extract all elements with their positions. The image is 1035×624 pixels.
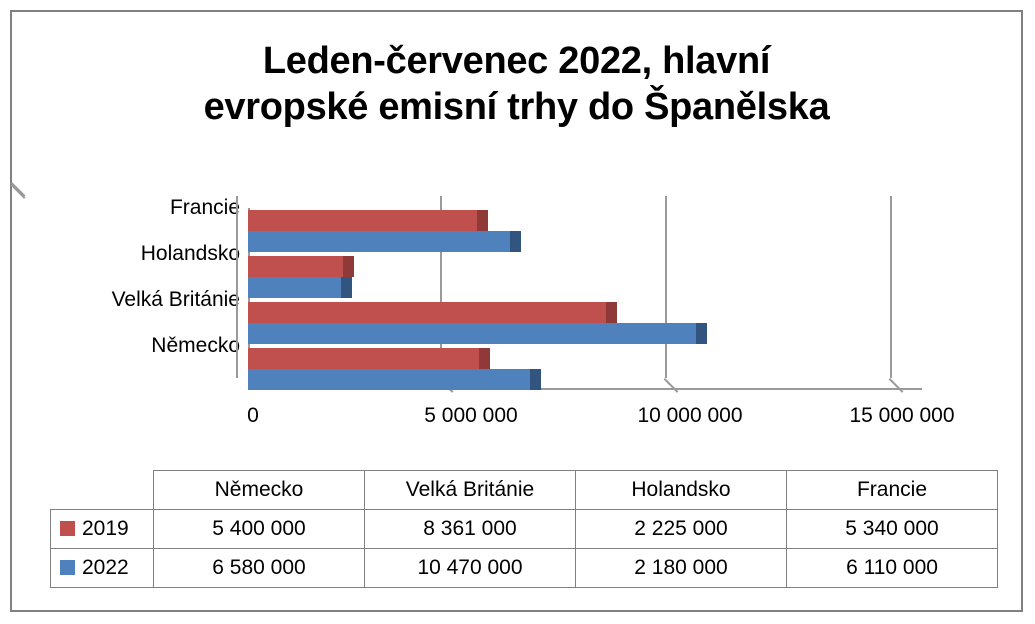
legend-label-2022: 2022: [82, 556, 129, 579]
bar-end-cap: [477, 210, 488, 231]
cell-2022-nemecko: 6 580 000: [154, 549, 365, 588]
bar-end-cap: [510, 231, 521, 252]
chart-plot-region: Francie Holandsko Velká Británie Německo: [12, 182, 1025, 452]
xtick-label-15m: 15 000 000: [802, 404, 1002, 428]
bar-face: [248, 210, 477, 231]
table-header-velka-britanie: Velká Británie: [365, 471, 576, 510]
legend-swatch-icon-2019: [60, 521, 75, 536]
cell-2019-velka-britanie: 8 361 000: [365, 510, 576, 549]
legend-entry-2022[interactable]: 2022: [51, 549, 154, 588]
bar-francie-2019[interactable]: [248, 210, 477, 231]
bar-face: [248, 256, 343, 277]
table-header-row: Německo Velká Británie Holandsko Francie: [51, 471, 998, 510]
chart-data-table: Německo Velká Británie Holandsko Francie…: [50, 470, 998, 588]
cell-2019-nemecko: 5 400 000: [154, 510, 365, 549]
xtick-label-5m: 5 000 000: [371, 404, 571, 428]
bar-face: [248, 323, 696, 344]
bar-end-cap: [479, 348, 490, 369]
table-header-nemecko: Německo: [154, 471, 365, 510]
bar-francie-2022[interactable]: [248, 231, 510, 252]
bar-face: [248, 277, 341, 298]
bar-face: [248, 302, 606, 323]
table-header-holandsko: Holandsko: [576, 471, 787, 510]
legend-entry-2019[interactable]: 2019: [51, 510, 154, 549]
cell-2019-holandsko: 2 225 000: [576, 510, 787, 549]
chart-title-line-1: Leden-červenec 2022, hlavní: [12, 38, 1021, 84]
bar-holandsko-2019[interactable]: [248, 256, 343, 277]
chart-title: Leden-červenec 2022, hlavní evropské emi…: [12, 38, 1021, 130]
value-axis-tick-labels: 0 5 000 000 10 000 000 15 000 000: [12, 404, 1025, 438]
chart-frame: Leden-červenec 2022, hlavní evropské emi…: [10, 10, 1023, 612]
bar-face: [248, 348, 479, 369]
xtick-label-10m: 10 000 000: [590, 404, 790, 428]
bar-end-cap: [530, 369, 541, 390]
table-corner-cell: [51, 471, 154, 510]
cell-2022-velka-britanie: 10 470 000: [365, 549, 576, 588]
bar-face: [248, 231, 510, 252]
bar-velka-britanie-2022[interactable]: [248, 323, 696, 344]
bar-end-cap: [341, 277, 352, 298]
table-row: 2019 5 400 000 8 361 000 2 225 000 5 340…: [51, 510, 998, 549]
bar-face: [248, 369, 530, 390]
cell-2022-francie: 6 110 000: [787, 549, 998, 588]
table-row: 2022 6 580 000 10 470 000 2 180 000 6 11…: [51, 549, 998, 588]
bar-end-cap: [343, 256, 354, 277]
bar-nemecko-2019[interactable]: [248, 348, 479, 369]
cell-2022-holandsko: 2 180 000: [576, 549, 787, 588]
bar-series-container: [12, 182, 1025, 412]
table-header-francie: Francie: [787, 471, 998, 510]
bar-end-cap: [696, 323, 707, 344]
cell-2019-francie: 5 340 000: [787, 510, 998, 549]
bar-holandsko-2022[interactable]: [248, 277, 341, 298]
legend-label-2019: 2019: [82, 517, 129, 540]
legend-swatch-icon-2022: [60, 560, 75, 575]
xtick-label-0: 0: [153, 404, 353, 428]
bar-nemecko-2022[interactable]: [248, 369, 530, 390]
bar-end-cap: [606, 302, 617, 323]
bar-velka-britanie-2019[interactable]: [248, 302, 606, 323]
chart-title-line-2: evropské emisní trhy do Španělska: [12, 84, 1021, 130]
